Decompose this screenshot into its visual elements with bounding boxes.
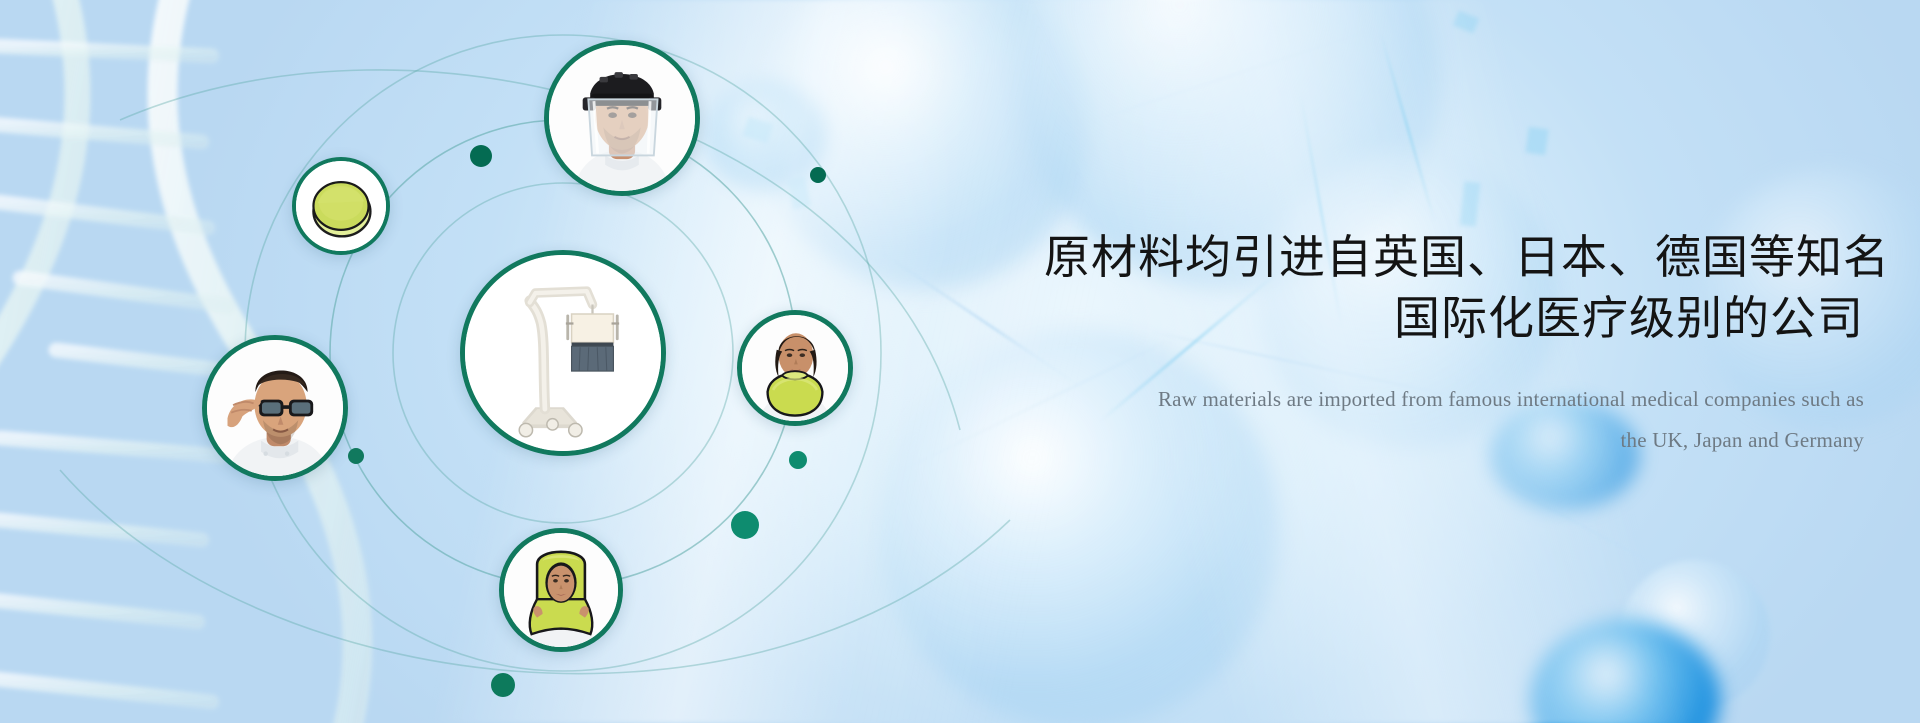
node-lead-hood[interactable] [499,528,623,652]
node-lead-cap[interactable] [292,157,390,255]
node-face-shield[interactable] [544,40,700,196]
banner-headline: 原材料均引进自英国、日本、德国等知名 国际化医疗级别的公司 [1044,227,1864,348]
banner-subtitle: Raw materials are imported from famous i… [1044,379,1864,461]
headline-line-2: 国际化医疗级别的公司 [1044,288,1864,349]
orbit-dot [470,145,492,167]
lead-cap-illustration [296,161,386,251]
lead-glasses-photo [207,340,343,476]
banner-copy: 原材料均引进自英国、日本、德国等知名 国际化医疗级别的公司 Raw materi… [1044,196,1864,482]
orbit-dot [491,673,515,697]
subtitle-line-2: the UK, Japan and Germany [1044,420,1864,461]
orbit-dot [731,511,759,539]
node-thyroid-collar[interactable] [737,310,853,426]
thyroid-collar-photo [742,315,848,421]
headline-line-1: 原材料均引进自英国、日本、德国等知名 [1044,231,1890,283]
mobile-xray-screen-illustration [465,255,661,451]
orbit-dot [789,451,807,469]
face-shield-photo [549,45,695,191]
orbit-dot [348,448,364,464]
node-lead-glasses[interactable] [202,335,348,481]
lead-hood-photo [504,533,618,647]
subtitle-line-1: Raw materials are imported from famous i… [1158,387,1864,411]
node-mobile-barrier[interactable] [460,250,666,456]
orbit-dot [810,167,826,183]
hero-banner: 原材料均引进自英国、日本、德国等知名 国际化医疗级别的公司 Raw materi… [0,0,1920,723]
